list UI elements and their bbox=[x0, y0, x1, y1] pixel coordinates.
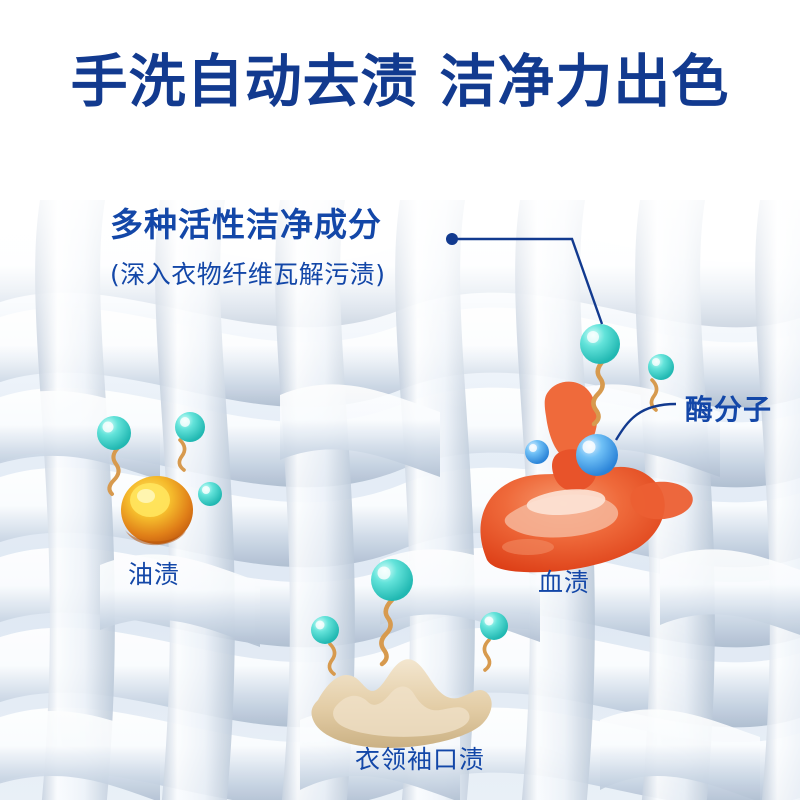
page-title: 手洗自动去渍 洁净力出色 bbox=[0, 52, 800, 114]
callout-leader-enzyme bbox=[616, 404, 676, 440]
label-oil-stain: 油渍 bbox=[128, 555, 180, 591]
enzyme-molecule-icon bbox=[175, 412, 205, 470]
enzyme-molecule-icon bbox=[198, 482, 222, 506]
label-collar-stain: 衣领袖口渍 bbox=[355, 740, 485, 776]
enzyme-molecule-icon bbox=[311, 616, 339, 674]
label-blood-stain: 血渍 bbox=[538, 563, 590, 599]
enzyme-molecule-icon bbox=[371, 559, 413, 664]
enzyme-molecule-icon bbox=[525, 440, 549, 464]
stains-and-molecules bbox=[0, 0, 800, 800]
enzyme-molecule-icon bbox=[576, 434, 618, 476]
product-feature-poster: 手洗自动去渍 洁净力出色 多种活性洁净成分 (深入衣物纤维瓦解污渍) 酶分子 油… bbox=[0, 0, 800, 800]
label-enzyme: 酶分子 bbox=[685, 388, 772, 428]
ingredients-title: 多种活性洁净成分 bbox=[110, 205, 530, 245]
blood-stain-icon bbox=[480, 382, 692, 573]
oil-stain-icon bbox=[121, 476, 193, 545]
enzyme-molecule-icon bbox=[97, 416, 131, 494]
collar-stain-icon bbox=[311, 659, 491, 748]
ingredients-note: (深入衣物纤维瓦解污渍) bbox=[110, 255, 530, 291]
ingredients-callout: 多种活性洁净成分 (深入衣物纤维瓦解污渍) bbox=[110, 205, 530, 291]
enzyme-molecule-icon bbox=[648, 354, 674, 410]
enzyme-molecule-icon bbox=[480, 612, 508, 670]
